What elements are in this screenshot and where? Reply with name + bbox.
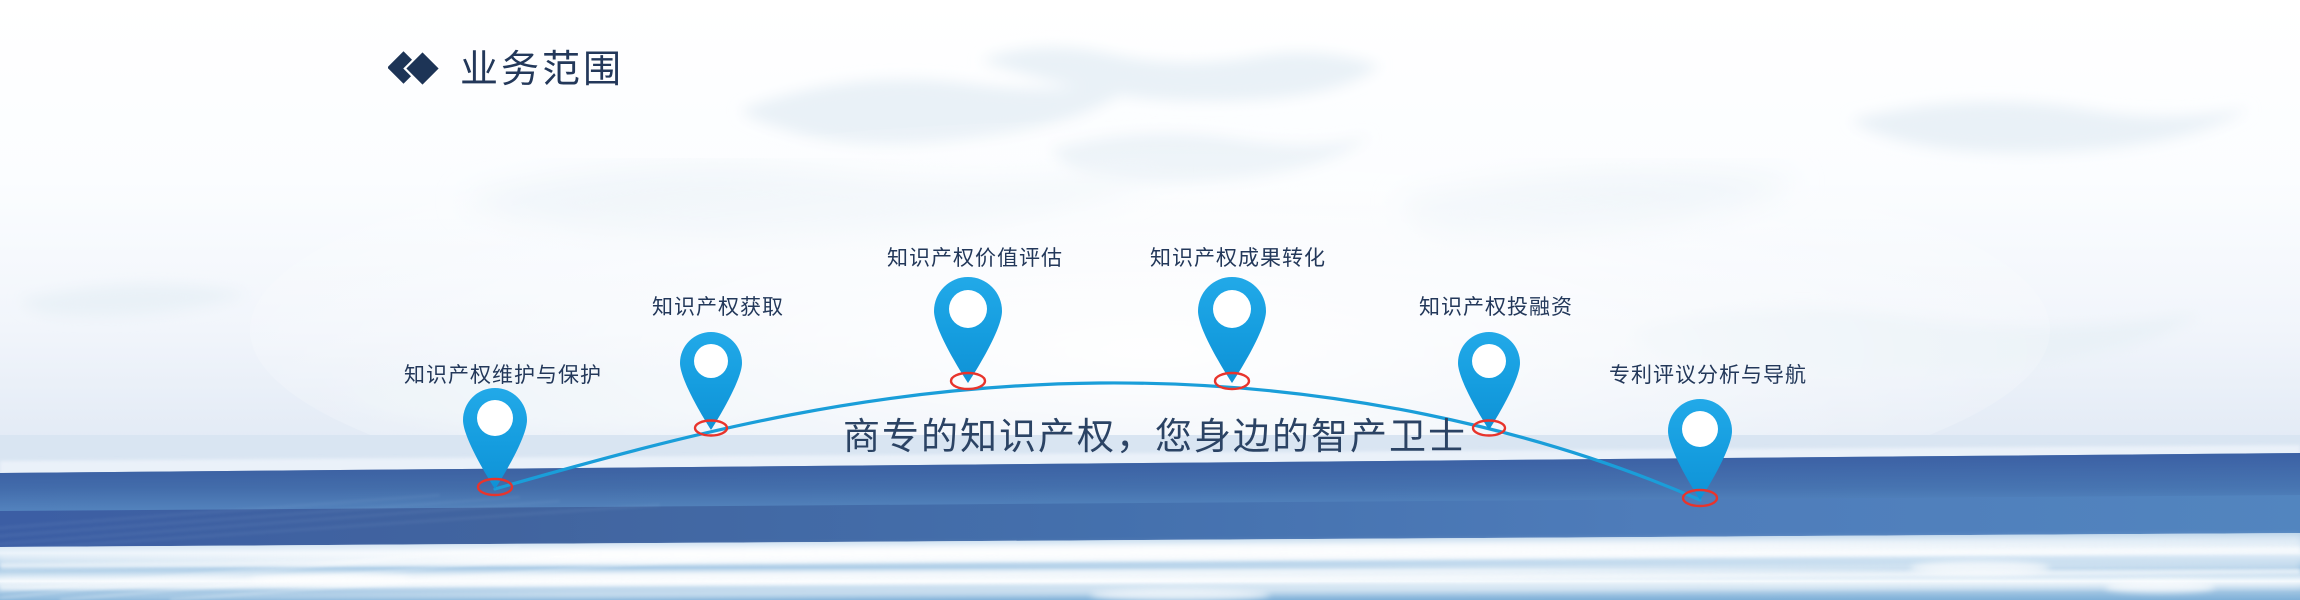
map-pin-inner-dot [1682, 411, 1718, 447]
milestone-arc-layer [0, 0, 2300, 600]
double-diamond-icon [388, 48, 440, 92]
pin-label-2[interactable]: 知识产权获取 [652, 297, 784, 318]
map-pin-3[interactable] [934, 277, 1002, 389]
map-pin-inner-dot [694, 344, 728, 378]
pin-label-3[interactable]: 知识产权价值评估 [887, 248, 1063, 269]
business-scope-banner: 业务范围 [0, 0, 2300, 600]
page-title-block: 业务范围 [388, 48, 624, 92]
map-pin-inner-dot [1472, 344, 1506, 378]
pin-label-1[interactable]: 知识产权维护与保护 [404, 365, 602, 386]
map-pin-2[interactable] [680, 332, 742, 436]
map-pin-inner-dot [949, 290, 987, 328]
pin-label-6[interactable]: 专利评议分析与导航 [1609, 365, 1807, 386]
page-title: 业务范围 [460, 51, 624, 89]
map-pin-inner-dot [1213, 290, 1251, 328]
map-pin-inner-dot [477, 400, 513, 436]
map-pin-5[interactable] [1458, 332, 1520, 436]
map-pin-4[interactable] [1198, 277, 1266, 389]
pin-label-4[interactable]: 知识产权成果转化 [1150, 248, 1326, 269]
pin-label-5[interactable]: 知识产权投融资 [1419, 297, 1573, 318]
banner-tagline: 商专的知识产权，您身边的智产卫士 [843, 418, 1467, 455]
map-pin-1[interactable] [463, 388, 527, 495]
